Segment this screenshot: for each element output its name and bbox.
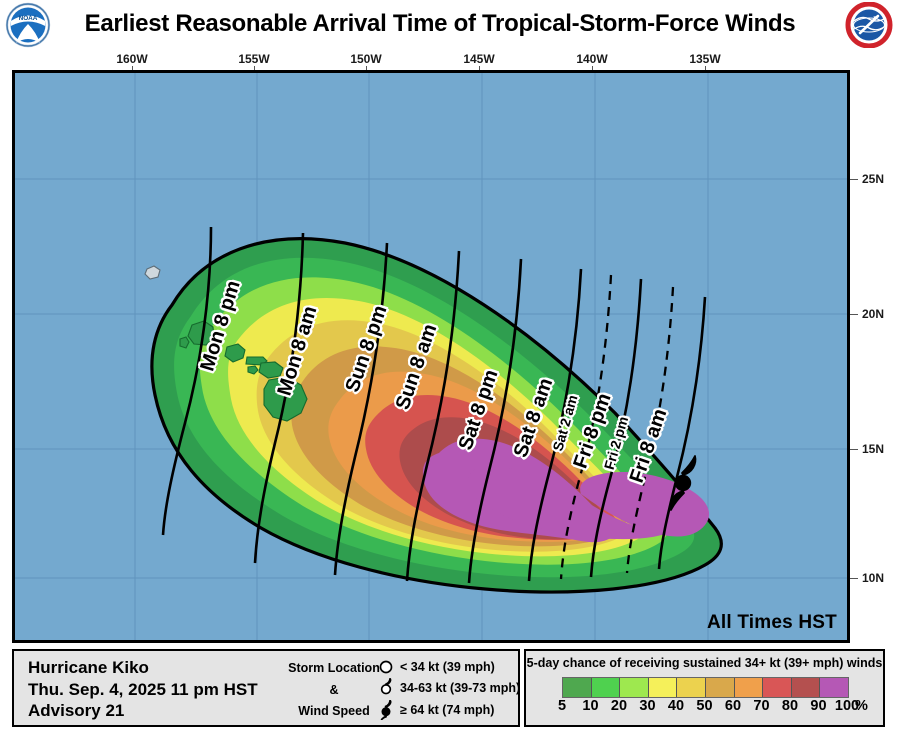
filled-hurricane-icon [376, 700, 396, 720]
colorbar-swatch-5 [563, 678, 592, 697]
lat-tick-label: 15N [862, 442, 884, 456]
symbol-key-heading-line3: Wind Speed [279, 701, 389, 723]
legend: Hurricane Kiko Thu. Sep. 4, 2025 11 pm H… [12, 649, 885, 729]
lat-tick-label: 25N [862, 172, 884, 186]
colorbar-tick-30: 30 [639, 698, 655, 714]
colorbar-swatch-70 [763, 678, 792, 697]
lon-tick-label: 155W [238, 52, 269, 66]
symbol-key-label: 34-63 kt (39-73 mph) [400, 681, 520, 695]
colorbar-panel: 5-day chance of receiving sustained 34+ … [524, 649, 885, 727]
colorbar-tick-70: 70 [753, 698, 769, 714]
lat-tick [850, 314, 858, 315]
symbol-key-row: ≥ 64 kt (74 mph) [376, 699, 520, 721]
lon-tick-label: 140W [576, 52, 607, 66]
colorbar-swatch-20 [620, 678, 649, 697]
header: NOAA Earliest Reasonable Arrival Time of… [0, 0, 897, 50]
colorbar-swatch-90 [820, 678, 848, 697]
all-times-note: All Times HST [707, 612, 837, 634]
colorbar-tick-50: 50 [696, 698, 712, 714]
storm-datetime: Thu. Sep. 4, 2025 11 pm HST [28, 679, 258, 701]
storm-info: Hurricane Kiko Thu. Sep. 4, 2025 11 pm H… [28, 657, 258, 722]
colorbar [562, 677, 849, 698]
lat-tick-label: 10N [862, 571, 884, 585]
colorbar-tick-5: 5 [558, 698, 566, 714]
colorbar-tick-80: 80 [782, 698, 798, 714]
symbol-key-label: < 34 kt (39 mph) [400, 660, 495, 674]
lat-tick [850, 578, 858, 579]
colorbar-tick-10: 10 [582, 698, 598, 714]
colorbar-tick-90: 90 [810, 698, 826, 714]
symbol-key-heading-line2: & [279, 680, 389, 702]
colorbar-tick-20: 20 [611, 698, 627, 714]
colorbar-swatch-80 [792, 678, 821, 697]
lon-tick-label: 135W [689, 52, 720, 66]
lat-tick-label: 20N [862, 307, 884, 321]
lon-tick-label: 145W [463, 52, 494, 66]
symbol-key-heading-line1: Storm Location [279, 658, 389, 680]
colorbar-tick-60: 60 [725, 698, 741, 714]
storm-name: Hurricane Kiko [28, 657, 258, 679]
colorbar-ticks: 5102030405060708090100 [544, 698, 874, 718]
colorbar-swatch-60 [735, 678, 764, 697]
lon-tick-label: 160W [116, 52, 147, 66]
storm-legend-panel: Hurricane Kiko Thu. Sep. 4, 2025 11 pm H… [12, 649, 520, 727]
symbol-key-row: 34-63 kt (39-73 mph) [376, 678, 520, 700]
colorbar-swatch-40 [677, 678, 706, 697]
colorbar-percent-symbol: % [855, 698, 868, 714]
storm-advisory: Advisory 21 [28, 700, 258, 722]
symbol-key-label: ≥ 64 kt (74 mph) [400, 703, 494, 717]
colorbar-swatch-10 [592, 678, 621, 697]
lat-tick [850, 449, 858, 450]
lat-tick [850, 179, 858, 180]
svg-text:NOAA: NOAA [19, 15, 38, 22]
forecast-graphic: NOAA Earliest Reasonable Arrival Time of… [0, 0, 897, 736]
symbol-key-heading: Storm Location & Wind Speed [279, 658, 389, 723]
symbol-key-row: < 34 kt (39 mph) [376, 656, 520, 678]
colorbar-swatch-30 [649, 678, 678, 697]
map-canvas[interactable]: Mon 8 pm Mon 8 am Sun 8 pm Sun 8 am Sat … [12, 70, 850, 643]
nws-logo-icon [845, 2, 893, 48]
colorbar-swatch-50 [706, 678, 735, 697]
noaa-logo-icon: NOAA [4, 2, 52, 48]
symbol-key-rows: < 34 kt (39 mph) 34-63 kt (39-73 mph) [376, 656, 520, 721]
open-circle-icon [376, 657, 396, 677]
open-hurricane-icon [376, 678, 396, 698]
colorbar-title: 5-day chance of receiving sustained 34+ … [526, 656, 883, 670]
page-title: Earliest Reasonable Arrival Time of Trop… [60, 4, 820, 44]
lon-tick-label: 150W [350, 52, 381, 66]
colorbar-tick-40: 40 [668, 698, 684, 714]
